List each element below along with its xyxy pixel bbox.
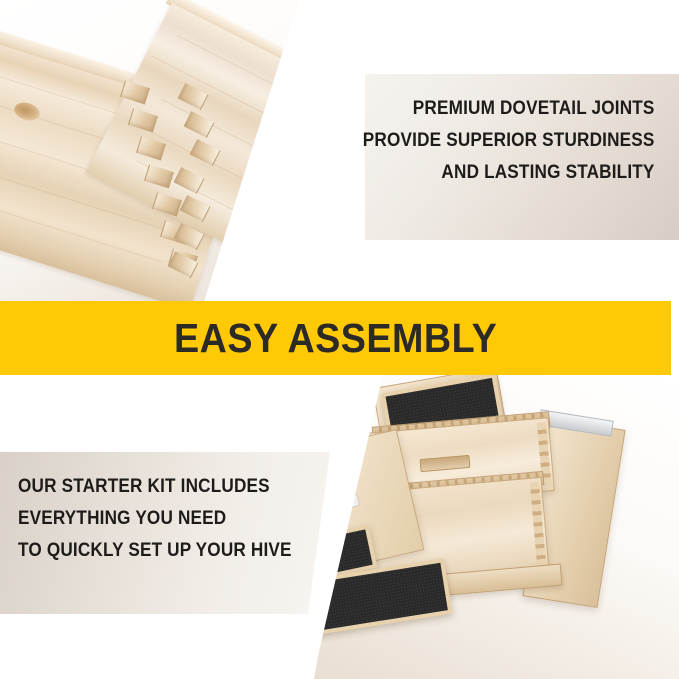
bottom-caption-line-2: EVERYTHING YOU NEED [18,502,292,534]
top-caption-lines: PREMIUM DOVETAIL JOINTS PROVIDE SUPERIOR… [323,92,655,188]
bottom-caption-line-1: OUR STARTER KIT INCLUDES [18,470,292,502]
top-caption-panel: PREMIUM DOVETAIL JOINTS PROVIDE SUPERIOR… [365,74,679,240]
bottom-caption-lines: OUR STARTER KIT INCLUDES EVERYTHING YOU … [18,470,329,566]
bottom-caption-panel: OUR STARTER KIT INCLUDES EVERYTHING YOU … [0,452,340,614]
top-caption-line-1: PREMIUM DOVETAIL JOINTS [363,92,655,124]
bottom-caption-line-3: TO QUICKLY SET UP YOUR HIVE [18,534,292,566]
top-caption-line-3: AND LASTING STABILITY [363,156,655,188]
easy-assembly-banner: EASY ASSEMBLY [0,301,671,375]
top-caption-line-2: PROVIDE SUPERIOR STURDINESS [363,124,655,156]
product-feature-poster: PREMIUM DOVETAIL JOINTS PROVIDE SUPERIOR… [0,0,679,679]
banner-label: EASY ASSEMBLY [174,315,497,362]
top-section: PREMIUM DOVETAIL JOINTS PROVIDE SUPERIOR… [0,0,679,301]
